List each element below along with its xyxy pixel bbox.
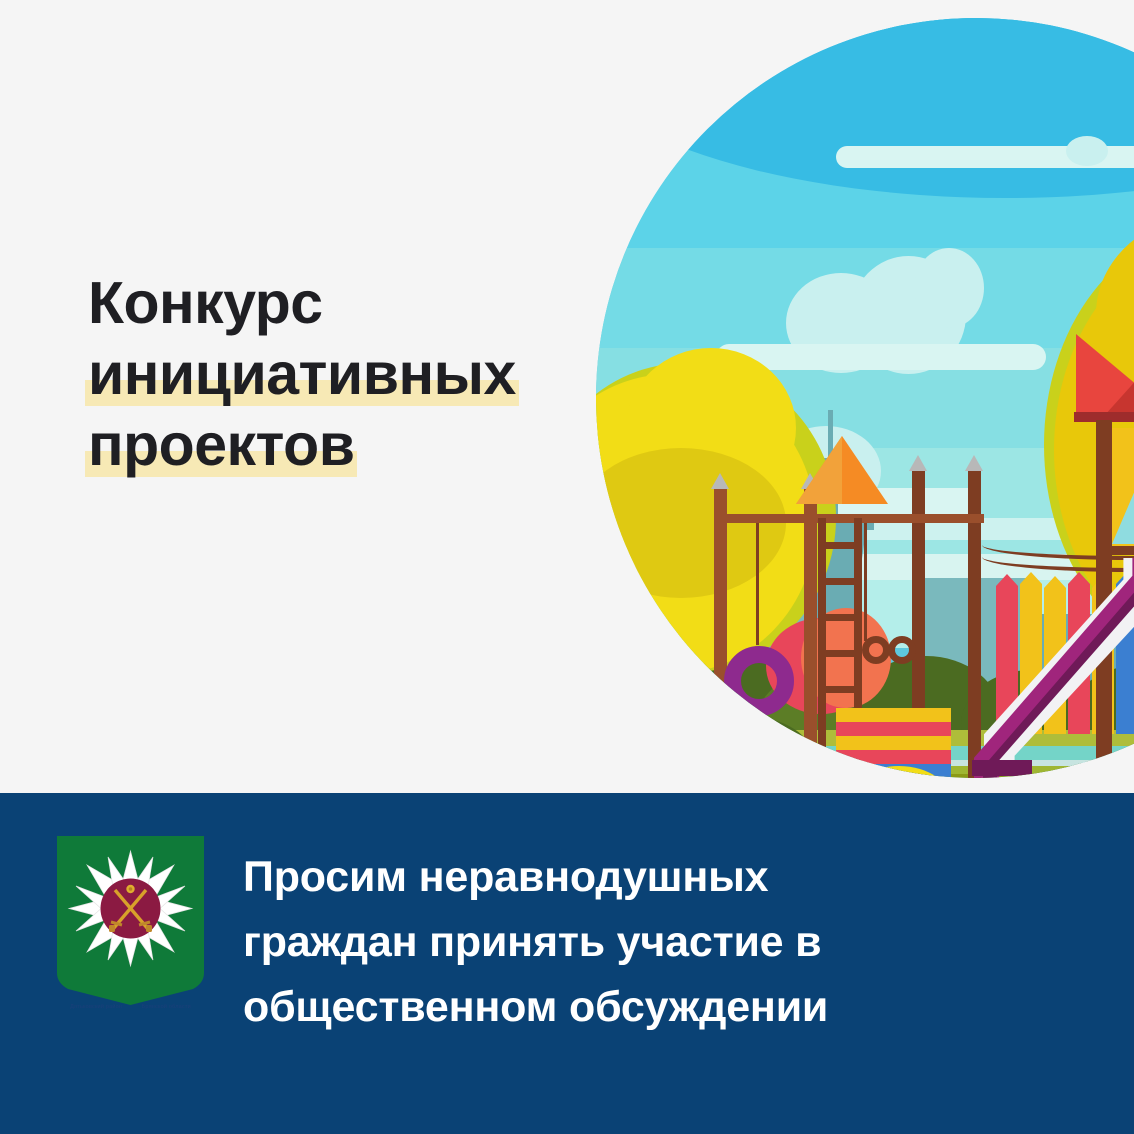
color-plank — [836, 722, 951, 736]
gymnastic-ring — [888, 636, 916, 664]
tire-swing — [724, 646, 794, 716]
tower-roof-front-left — [1104, 338, 1134, 416]
color-plank — [836, 750, 951, 764]
title-line-3: проектов — [88, 410, 588, 481]
banner-message: Просим неравнодушных граждан принять уча… — [243, 845, 1103, 1040]
title-line-1: Конкурс — [88, 268, 588, 339]
title-line-2-text: инициативных — [88, 339, 516, 410]
emblem-gold-dot-inner — [129, 887, 133, 891]
playground-roof-orange — [796, 436, 842, 504]
post-cap — [965, 455, 983, 471]
coat-of-arms-svg — [53, 833, 208, 1008]
ladder-rung — [818, 686, 862, 693]
cloud — [1066, 136, 1108, 166]
emblem-caption-left: Дятьковский район — [70, 1004, 122, 1010]
ladder-rung — [818, 650, 862, 657]
emblem-caption: Дятьковский район Брянской области — [53, 1004, 208, 1010]
banner-line-2: граждан принять участие в — [243, 910, 1103, 975]
banner-line-3: общественном обсуждении — [243, 975, 1103, 1040]
poster-top-section: Конкурс инициативных проектов — [0, 0, 1134, 793]
title-line-2: инициативных — [88, 339, 588, 410]
gymnastic-ring — [862, 636, 890, 664]
emblem-caption-right: Брянской области — [142, 1004, 191, 1010]
playground-park-illustration — [596, 18, 1134, 778]
cloud — [914, 248, 984, 328]
title-line-3-text: проектов — [88, 410, 354, 481]
bottom-banner: Дятьковский район Брянской области Проси… — [0, 793, 1134, 1134]
color-plank — [836, 736, 951, 750]
ladder-rung — [818, 578, 862, 585]
swing-beam — [714, 514, 984, 523]
tower-railing — [1096, 546, 1134, 555]
tower-panel-triangle — [1112, 460, 1134, 544]
ladder-rung — [818, 614, 862, 621]
swing-rope — [756, 523, 759, 645]
slide-foot — [972, 760, 1032, 776]
ladder-rail — [818, 518, 826, 778]
ladder-rung — [818, 542, 862, 549]
coat-of-arms-dyatkovsky-district: Дятьковский район Брянской области — [53, 833, 208, 1008]
playground-post — [804, 488, 817, 778]
post-cap — [909, 455, 927, 471]
color-plank — [836, 708, 951, 722]
post-cap — [711, 473, 729, 489]
poster-title: Конкурс инициативных проектов — [88, 268, 588, 481]
swing-rope — [864, 523, 867, 641]
banner-line-1: Просим неравнодушных — [243, 845, 1103, 910]
